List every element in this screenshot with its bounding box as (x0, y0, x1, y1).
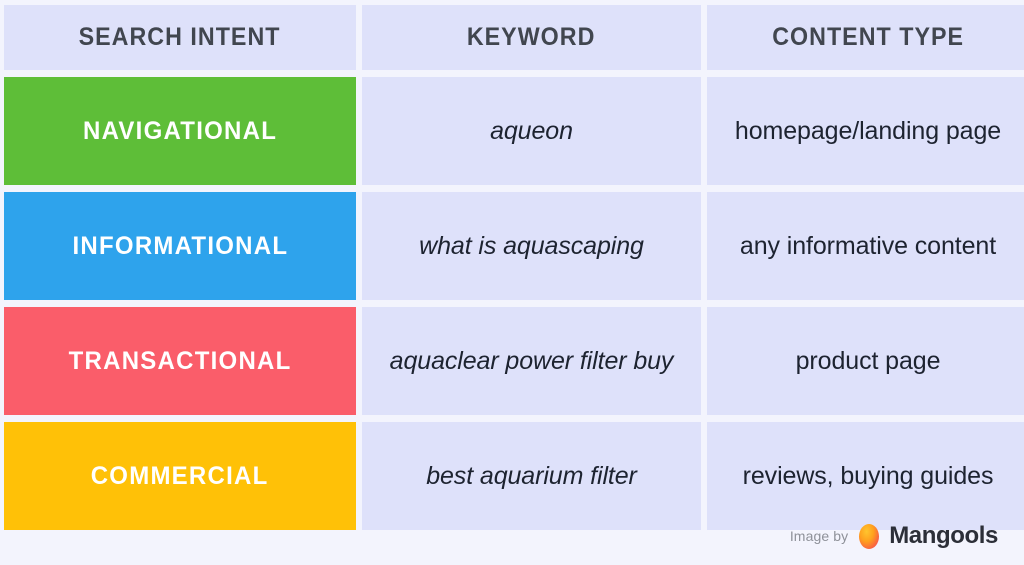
infographic-root: SEARCH INTENT KEYWORD CONTENT TYPE NAVIG… (0, 0, 1024, 565)
keyword-cell: aqueon (362, 77, 701, 185)
keyword-label: what is aquascaping (419, 232, 644, 261)
table-header-content-type: CONTENT TYPE (707, 5, 1024, 70)
mango-logo-icon (859, 524, 879, 549)
mangools-brand: Mangools (859, 522, 998, 550)
keyword-cell: what is aquascaping (362, 192, 701, 300)
content-type-cell: reviews, buying guides (707, 422, 1024, 530)
keyword-cell: best aquarium filter (362, 422, 701, 530)
content-type-label: product page (796, 347, 941, 376)
intent-label: TRANSACTIONAL (69, 347, 292, 376)
image-attribution: Image by Mangools (790, 521, 998, 551)
credit-label: Image by (790, 528, 848, 544)
table-row: INFORMATIONAL (4, 192, 356, 300)
table-row: TRANSACTIONAL (4, 307, 356, 415)
content-type-label: any informative content (740, 232, 996, 261)
search-intent-table: SEARCH INTENT KEYWORD CONTENT TYPE NAVIG… (4, 5, 1023, 530)
table-row: COMMERCIAL (4, 422, 356, 530)
keyword-label: aquaclear power filter buy (390, 347, 674, 376)
table-header-keyword: KEYWORD (362, 5, 701, 70)
content-type-cell: product page (707, 307, 1024, 415)
intent-label: COMMERCIAL (91, 462, 269, 491)
header-label: SEARCH INTENT (79, 23, 281, 52)
content-type-cell: homepage/landing page (707, 77, 1024, 185)
content-type-cell: any informative content (707, 192, 1024, 300)
keyword-cell: aquaclear power filter buy (362, 307, 701, 415)
content-type-label: reviews, buying guides (743, 462, 994, 491)
content-type-label: homepage/landing page (735, 117, 1001, 146)
header-label: KEYWORD (467, 23, 596, 52)
table-row: NAVIGATIONAL (4, 77, 356, 185)
brand-name-label: Mangools (889, 522, 998, 550)
keyword-label: aqueon (490, 117, 573, 146)
intent-label: INFORMATIONAL (72, 232, 288, 261)
intent-label: NAVIGATIONAL (83, 117, 277, 146)
header-label: CONTENT TYPE (772, 23, 964, 52)
keyword-label: best aquarium filter (426, 462, 637, 491)
table-header-search-intent: SEARCH INTENT (4, 5, 356, 70)
